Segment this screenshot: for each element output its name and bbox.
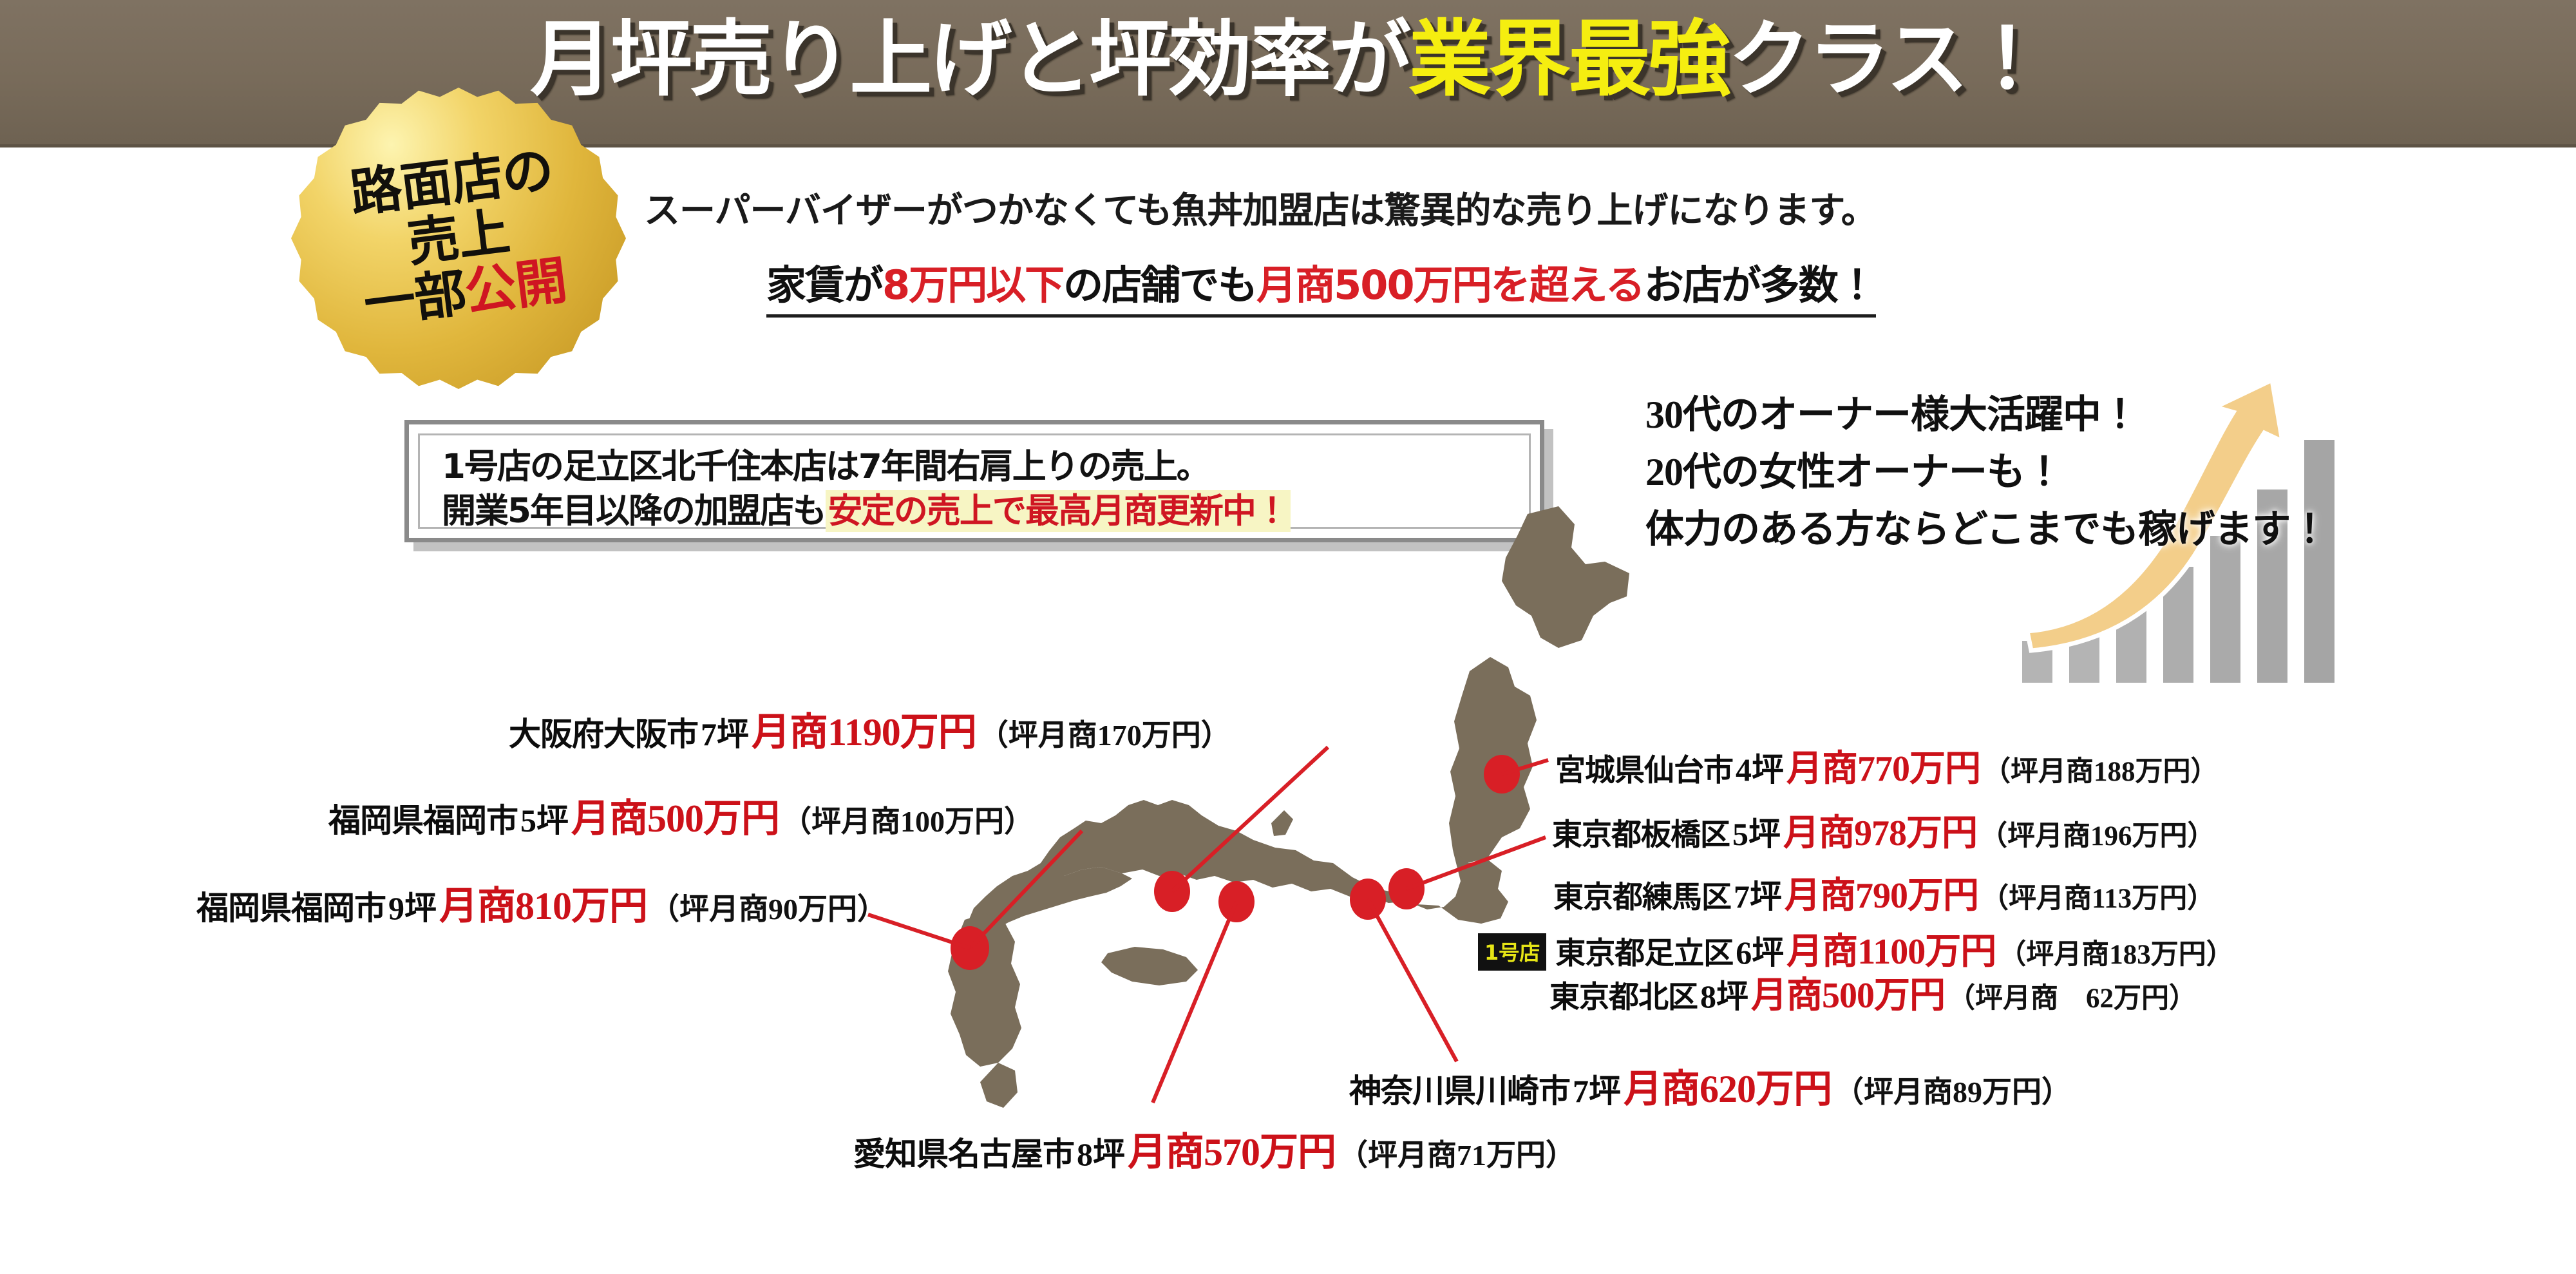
store-label-kita: 東京都北区 8坪 月商500万円 （坪月商 62万円） [1549, 966, 2197, 1018]
store-tsubo: 7坪 [1734, 879, 1782, 915]
store-tsubo: 5坪 [1732, 816, 1781, 852]
intro-line-2: 家賃が8万円以下の店舗でも月商500万円を超えるお店が多数！ [766, 252, 1876, 318]
store-label-sendai: 宮城県仙台市 4坪 月商770万円 （坪月商188万円） [1555, 739, 2219, 792]
owner-line-2: 20代の女性オーナーも！ [1645, 444, 2328, 501]
store-tsubo: 8坪 [1077, 1136, 1125, 1172]
marker-fukuoka [951, 926, 989, 970]
seal-line-3: 一部公開 [361, 254, 569, 334]
owner-line-1: 30代のオーナー様大活躍中！ [1645, 386, 2328, 444]
store-amount: 月商500万円 [571, 797, 779, 840]
intro-line-1: スーパーバイザーがつかなくても魚丼加盟店は驚異的な売り上げになります。 [644, 182, 1877, 234]
intro-2d-sales: 月商500万円を超える [1256, 261, 1644, 309]
store-place: 福岡県福岡市 [196, 890, 386, 926]
land-hokkaido [1502, 506, 1615, 648]
store-tsubo: 7坪 [1573, 1073, 1621, 1109]
store-amount: 月商810万円 [439, 885, 647, 927]
store-per-tsubo: （坪月商 62万円） [1947, 984, 2197, 1014]
store-per-tsubo: （坪月商170万円） [979, 719, 1231, 752]
land-noto [1271, 810, 1293, 836]
store-place: 福岡県福岡市 [328, 803, 518, 839]
store-tsubo: 5坪 [520, 803, 569, 839]
marker-osaka [1154, 871, 1190, 912]
store-place: 東京都練馬区 [1553, 881, 1731, 915]
store-amount: 月商770万円 [1786, 749, 1980, 789]
store-place: 宮城県仙台市 [1555, 754, 1733, 788]
store-label-osaka: 大阪府大阪市 7坪 月商1190万円 （坪月商170万円） [509, 701, 1231, 757]
land-kanto-chubu [1041, 800, 1508, 924]
statement-line-1: 1号店の足立区北千住本店は7年間右肩上りの売上。 [442, 447, 1529, 488]
seal-line-3-red: 公開 [462, 253, 570, 322]
store-place: 東京都北区 [1549, 981, 1698, 1014]
land-kyushu-south [980, 1063, 1018, 1108]
store-amount: 月商790万円 [1785, 876, 1978, 916]
store-label-itabashi: 東京都板橋区 5坪 月商978万円 （坪月商196万円） [1552, 804, 2215, 856]
seal-text: 路面店の 売上 一部公開 [272, 52, 645, 424]
seal-line-3-black: 一部 [361, 265, 469, 334]
land-shikoku [1101, 947, 1198, 985]
store-per-tsubo: （坪月商196万円） [1980, 821, 2215, 851]
owner-line-3: 体力のある方ならどこまでも稼げます！ [1645, 501, 2328, 558]
store-place: 神奈川県川崎市 [1349, 1073, 1570, 1109]
store-label-nerima: 東京都練馬区 7坪 月商790万円 （坪月商113万円） [1553, 866, 2215, 918]
store-amount: 月商500万円 [1751, 976, 1945, 1016]
store-place: 東京都板橋区 [1552, 819, 1730, 852]
intro-2a: 家賃が [766, 261, 882, 309]
title-highlight: 業界最強 [1408, 12, 1728, 108]
marker-tokyo [1388, 868, 1425, 909]
store-tsubo: 7坪 [701, 716, 749, 752]
store-per-tsubo: （坪月商113万円） [1981, 884, 2215, 914]
owner-copy: 30代のオーナー様大活躍中！ 20代の女性オーナーも！ 体力のある方ならどこまで… [1645, 386, 2328, 558]
store-per-tsubo: （坪月商183万円） [1998, 940, 2234, 970]
marker-sendai [1484, 755, 1520, 794]
store-per-tsubo: （坪月商89万円） [1834, 1076, 2071, 1108]
store-label-fukuoka-9tsubo: 福岡県福岡市 9坪 月商810万円 （坪月商90万円） [196, 875, 887, 931]
store-tsubo: 8坪 [1700, 978, 1748, 1014]
statement-2a: 開業5年目以降の加盟店も [442, 491, 826, 531]
title-post: クラス！ [1728, 12, 2045, 108]
store-label-nagoya: 愛知県名古屋市 8坪 月商570万円 （坪月商71万円） [853, 1121, 1575, 1177]
infographic-root: 月坪売り上げと坪効率が業界最強クラス！ 路面店の 売上 一部公開 スーパーバイザ… [0, 0, 2576, 1274]
store-amount: 月商978万円 [1783, 813, 1977, 853]
gold-seal-badge: 路面店の 売上 一部公開 [291, 71, 626, 406]
store-no1-badge: 1号店 [1478, 933, 1546, 971]
store-place: 愛知県名古屋市 [853, 1136, 1074, 1172]
map-landmass [948, 506, 1629, 1108]
store-amount: 月商620万円 [1624, 1068, 1832, 1110]
store-label-kawasaki: 神奈川県川崎市 7坪 月商620万円 （坪月商89万円） [1349, 1058, 2071, 1114]
store-per-tsubo: （坪月商100万円） [782, 805, 1034, 838]
title-pre: 月坪売り上げと坪効率が [530, 12, 1408, 108]
store-tsubo: 9坪 [388, 890, 437, 926]
store-per-tsubo: （坪月商71万円） [1338, 1139, 1575, 1172]
store-per-tsubo: （坪月商188万円） [1983, 757, 2219, 787]
intro-2c: の店舗でも [1063, 261, 1256, 309]
store-tsubo: 6坪 [1736, 935, 1784, 971]
store-per-tsubo: （坪月商90万円） [650, 893, 887, 926]
marker-nagoya [1218, 881, 1255, 922]
store-place: 大阪府大阪市 [509, 716, 698, 752]
store-amount: 月商570万円 [1128, 1131, 1336, 1174]
store-tsubo: 4坪 [1736, 752, 1784, 788]
store-label-fukuoka-5tsubo: 福岡県福岡市 5坪 月商500万円 （坪月商100万円） [328, 787, 1034, 843]
store-amount: 月商1190万円 [752, 711, 976, 754]
intro-2b-rent: 8万円以下 [882, 261, 1063, 309]
marker-kawasaki [1350, 879, 1386, 920]
intro-2e: お店が多数！ [1644, 261, 1876, 309]
